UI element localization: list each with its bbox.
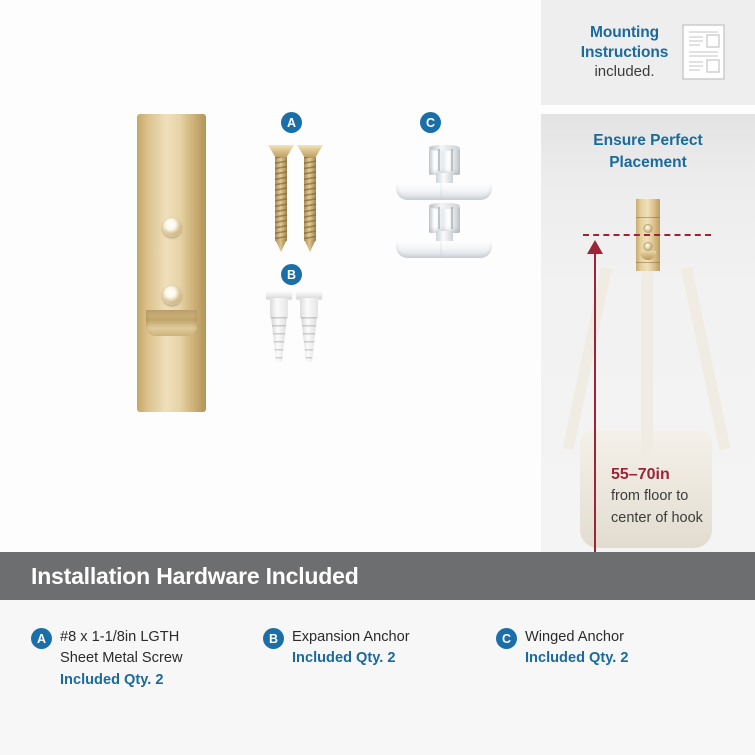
callout-badge-b: B xyxy=(281,264,302,285)
measurement-arrow-shaft xyxy=(594,248,596,552)
legend-text-c: Winged Anchor Included Qty. 2 xyxy=(525,627,629,670)
measurement-callout: 55–70in from floor to center of hook xyxy=(611,466,751,530)
measurement-desc-line-1: from floor to xyxy=(611,488,688,504)
placement-title: Ensure Perfect Placement xyxy=(541,130,755,174)
expansion-anchor-2 xyxy=(296,290,322,362)
winged-anchor-cylinder-top xyxy=(429,145,460,151)
callout-badge-b-label: B xyxy=(287,268,296,282)
legend-badge-c-label: C xyxy=(502,632,511,646)
winged-anchor-cylinder-top xyxy=(429,203,460,209)
hook-plate-screw-hole-lower xyxy=(162,286,181,305)
screw-tip xyxy=(304,239,316,252)
hardware-title: Installation Hardware Included xyxy=(0,563,359,590)
callout-badge-c: C xyxy=(420,112,441,133)
sheet-metal-screw-1 xyxy=(268,145,294,252)
legend-badge-a-label: A xyxy=(37,632,46,646)
mounting-line-3: included. xyxy=(581,63,669,82)
legend-text-a: #8 x 1-1/8in LGTH Sheet Metal Screw Incl… xyxy=(60,627,182,691)
winged-anchor-slot-right xyxy=(451,207,453,229)
placement-title-line-1: Ensure Perfect xyxy=(593,132,702,149)
hook-plate-top-segment xyxy=(137,114,206,176)
legend-item-a: A #8 x 1-1/8in LGTH Sheet Metal Screw In… xyxy=(31,627,246,691)
winged-anchor-wing-right xyxy=(440,241,492,258)
callout-badge-c-label: C xyxy=(426,116,435,130)
screw-shaft xyxy=(304,157,316,241)
hardware-legend: A #8 x 1-1/8in LGTH Sheet Metal Screw In… xyxy=(0,600,755,755)
measurement-value: 55–70in xyxy=(611,466,751,484)
winged-anchor-cylinder xyxy=(429,147,460,175)
screw-shaft xyxy=(275,157,287,241)
mounting-instructions-panel: Mounting Instructions included. xyxy=(541,0,755,105)
winged-anchor-slot-left xyxy=(438,149,440,171)
legend-a-name-line-2: Sheet Metal Screw xyxy=(60,648,182,669)
legend-text-b: Expansion Anchor Included Qty. 2 xyxy=(292,627,410,670)
legend-badge-b-label: B xyxy=(269,632,278,646)
screw-tip xyxy=(275,239,287,252)
anchor-ribbed-body xyxy=(271,317,287,362)
legend-badge-a: A xyxy=(31,628,52,649)
anchor-neck xyxy=(270,298,288,318)
legend-b-qty: Included Qty. 2 xyxy=(292,648,410,669)
measurement-desc-line-2: center of hook xyxy=(611,510,703,526)
hook-plate-product xyxy=(137,114,206,412)
legend-a-name-line-1: #8 x 1-1/8in LGTH xyxy=(60,627,182,648)
legend-a-qty: Included Qty. 2 xyxy=(60,670,182,691)
legend-item-b: B Expansion Anchor Included Qty. 2 xyxy=(263,627,478,670)
legend-badge-c: C xyxy=(496,628,517,649)
winged-anchor-slot-left xyxy=(438,207,440,229)
placement-dashed-line xyxy=(583,234,711,236)
anchor-ribbed-body xyxy=(301,317,317,362)
legend-c-name-line-1: Winged Anchor xyxy=(525,627,629,648)
hook-plate-bottom-segment xyxy=(137,348,206,412)
legend-item-c: C Winged Anchor Included Qty. 2 xyxy=(496,627,726,670)
hook-plate-hook-lip xyxy=(146,310,197,336)
placement-title-line-2: Placement xyxy=(609,154,687,171)
legend-c-qty: Included Qty. 2 xyxy=(525,648,629,669)
mounting-instructions-text: Mounting Instructions included. xyxy=(581,23,669,82)
sheet-metal-screw-2 xyxy=(297,145,323,252)
anchor-neck xyxy=(300,298,318,318)
expansion-anchor-1 xyxy=(266,290,292,362)
winged-anchor-cylinder xyxy=(429,205,460,233)
winged-anchor-wing-right xyxy=(440,183,492,200)
winged-anchor-1 xyxy=(396,145,492,209)
hook-plate-screw-hole-upper xyxy=(162,218,181,237)
hardware-title-bar: Installation Hardware Included xyxy=(0,552,755,600)
legend-badge-b: B xyxy=(263,628,284,649)
callout-badge-a: A xyxy=(281,112,302,133)
callout-badge-a-label: A xyxy=(287,116,296,130)
mounting-line-1: Mounting xyxy=(581,23,669,43)
winged-anchor-2 xyxy=(396,203,492,267)
mounting-line-2: Instructions xyxy=(581,43,669,63)
measurement-description: from floor to center of hook xyxy=(611,486,751,530)
bag-strap-center xyxy=(641,268,653,463)
winged-anchor-slot-right xyxy=(451,149,453,171)
document-icon xyxy=(682,24,725,80)
product-infographic: Mounting Instructions included. xyxy=(0,0,755,755)
legend-b-name-line-1: Expansion Anchor xyxy=(292,627,410,648)
